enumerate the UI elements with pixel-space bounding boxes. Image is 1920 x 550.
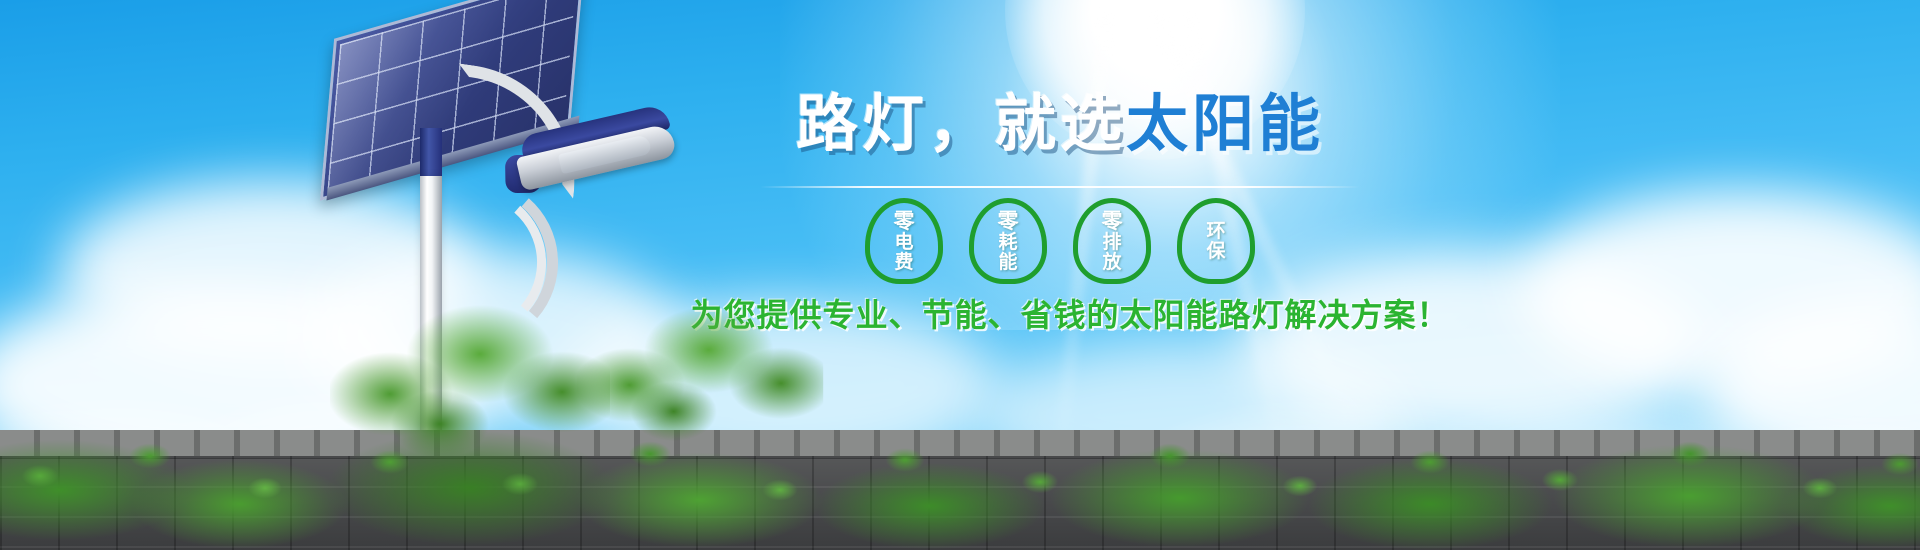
badge-word-2: 能 bbox=[998, 253, 1017, 272]
feature-badge-energy-consumption: 零 耗 能 bbox=[969, 198, 1047, 284]
page-title: 路灯，就选太阳能 bbox=[750, 92, 1370, 157]
feature-badge-list: 零 电 费 零 耗 能 零 排 放 环 保 bbox=[750, 198, 1370, 284]
feature-badge-eco-friendly: 环 保 bbox=[1177, 198, 1255, 284]
badge-word-1: 排 bbox=[1102, 233, 1121, 252]
badge-word-2: 放 bbox=[1102, 253, 1121, 272]
badge-word-2: 费 bbox=[894, 253, 913, 272]
feature-badge-electricity-fee: 零 电 费 bbox=[865, 198, 943, 284]
headline-primary: 路灯，就选 bbox=[796, 90, 1126, 159]
headline-accent: 太阳能 bbox=[1126, 90, 1324, 159]
badge-word-2: 保 bbox=[1206, 242, 1225, 261]
hedge-foliage bbox=[0, 400, 1920, 550]
badge-word-1: 耗 bbox=[998, 233, 1017, 252]
badge-zero-label: 零 bbox=[998, 211, 1019, 232]
badge-word-1: 电 bbox=[894, 233, 913, 252]
divider bbox=[760, 186, 1360, 188]
feature-badge-emissions: 零 排 放 bbox=[1073, 198, 1151, 284]
solar-street-lamp-hero-banner: 路灯，就选太阳能 零 电 费 零 耗 能 零 排 放 环 保 bbox=[0, 0, 1920, 550]
badge-zero-label: 零 bbox=[894, 211, 915, 232]
badge-word-1: 环 bbox=[1206, 222, 1225, 241]
badge-zero-label: 零 bbox=[1102, 211, 1123, 232]
